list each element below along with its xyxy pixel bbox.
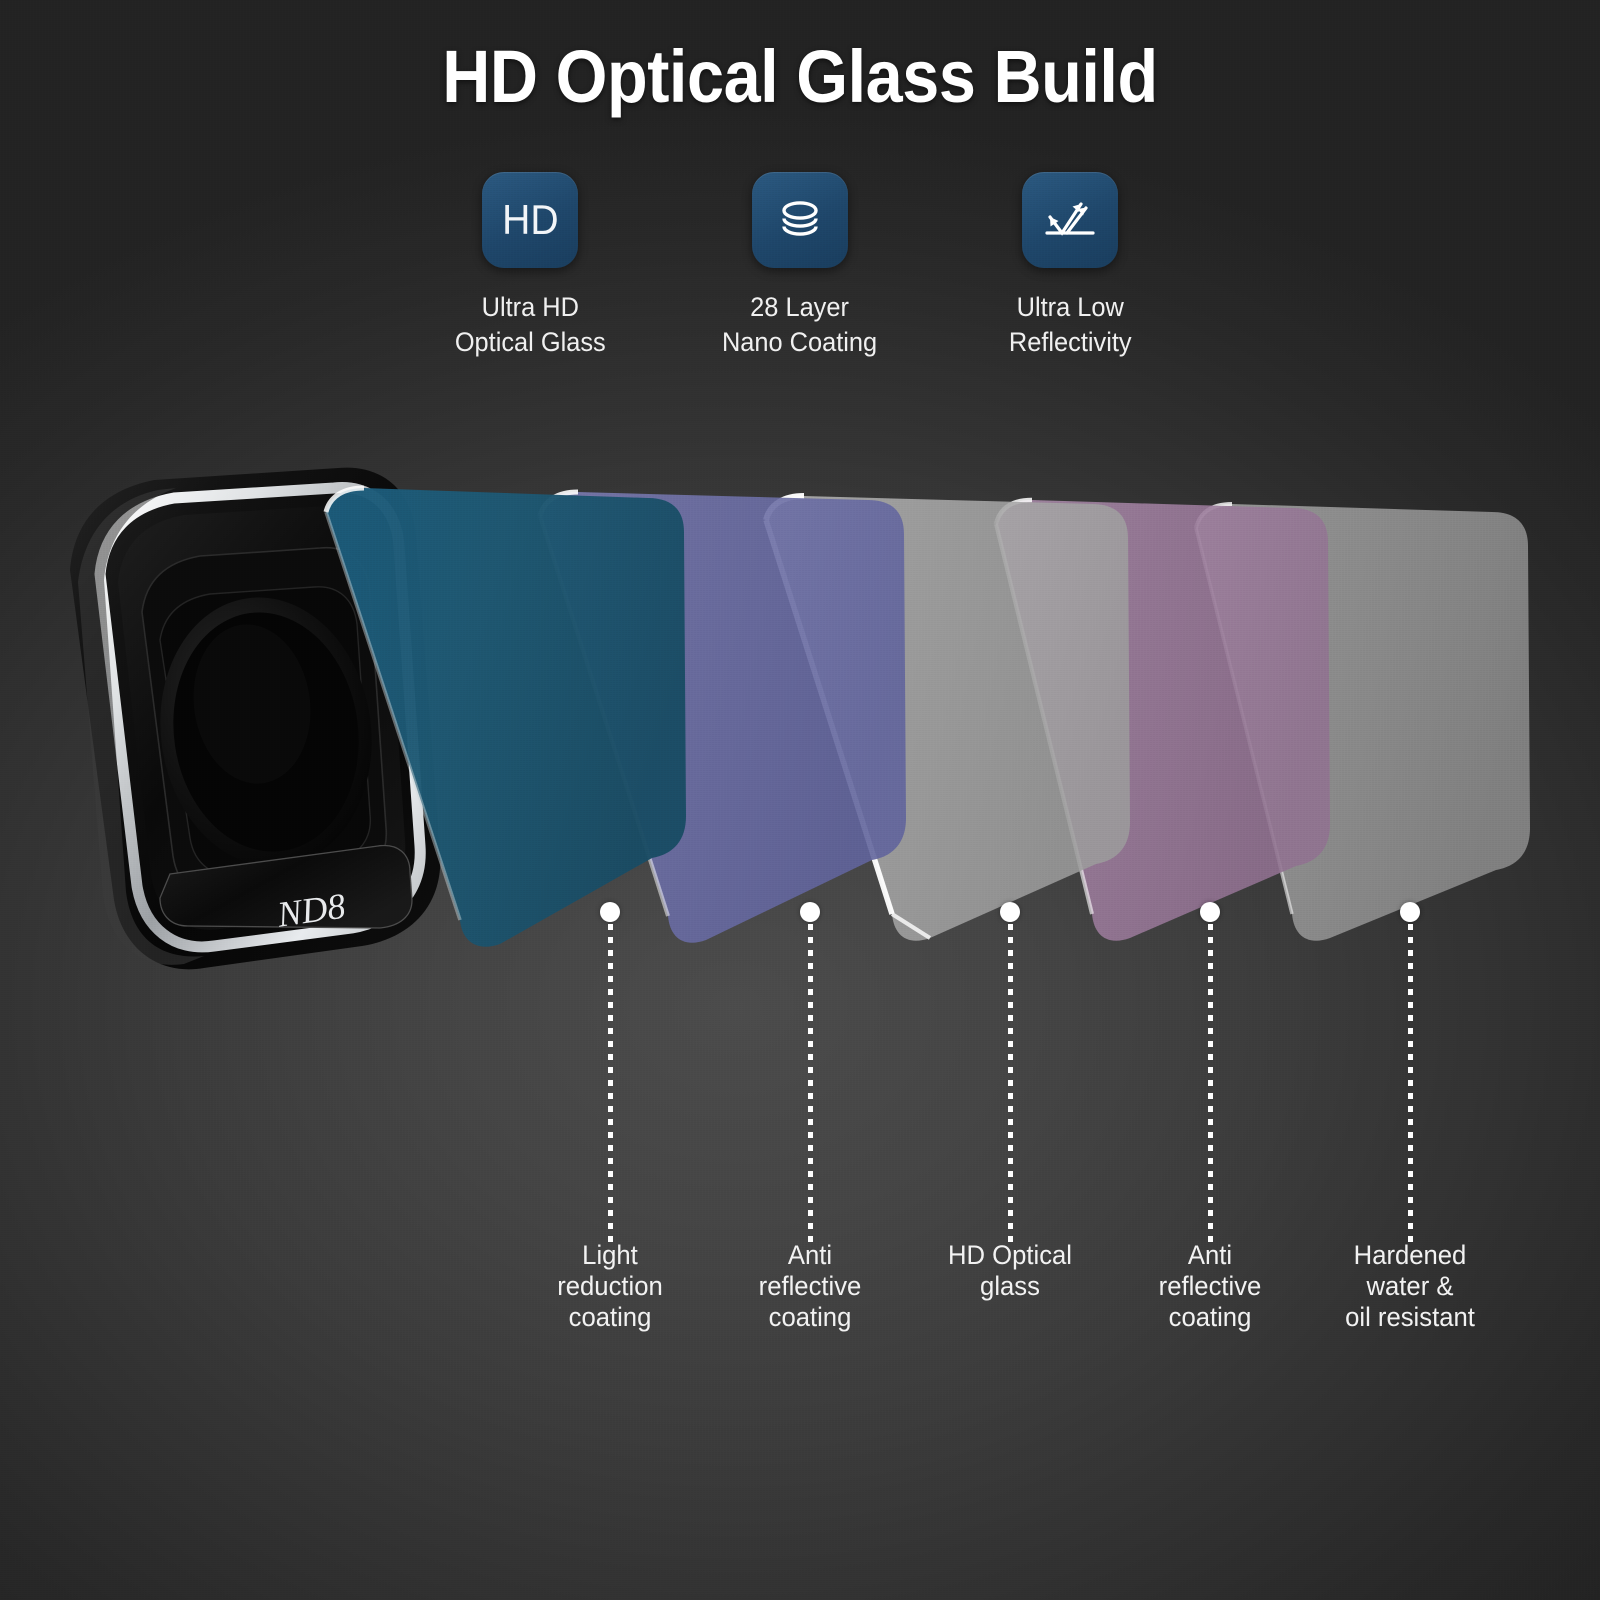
- feature-badge-row: HD Ultra HD Optical Glass 28 Layer Nano …: [430, 172, 1170, 360]
- callout-label-4: Hardened water & oil resistant: [1296, 1240, 1524, 1333]
- callout-dotted-line: [608, 924, 613, 1242]
- light-reflection-icon: [1041, 192, 1099, 248]
- plate-anti-reflective-coating-back: [996, 500, 1330, 941]
- infographic-canvas: HD Optical Glass Build HD Ultra HD Optic…: [0, 0, 1600, 1600]
- plate-hd-optical-glass: [766, 496, 1130, 941]
- feature-ultra-low-reflectivity: Ultra Low Reflectivity: [970, 172, 1170, 360]
- callout-dotted-line: [1008, 924, 1013, 1242]
- callout-label-2: HD Optical glass: [896, 1240, 1124, 1302]
- feature-28-layer-nano-coating: 28 Layer Nano Coating: [700, 172, 900, 360]
- feature-label-1: 28 Layer Nano Coating: [722, 290, 877, 360]
- nd-filter-product: ND8: [8, 452, 468, 997]
- callout-label-1: Anti reflective coating: [696, 1240, 924, 1333]
- feature-ultra-hd-optical-glass: HD Ultra HD Optical Glass: [430, 172, 630, 360]
- callout-dot-icon: [600, 902, 620, 922]
- callout-label-3: Anti reflective coating: [1096, 1240, 1324, 1333]
- layers-badge: [752, 172, 848, 268]
- callout-dot-icon: [800, 902, 820, 922]
- callout-dotted-line: [808, 924, 813, 1242]
- reflectivity-badge: [1022, 172, 1118, 268]
- page-title: HD Optical Glass Build: [80, 36, 1520, 118]
- feature-label-0: Ultra HD Optical Glass: [455, 290, 606, 360]
- feature-label-2: Ultra Low Reflectivity: [1009, 290, 1132, 360]
- plate-hardened-water-oil-resistant: [1196, 504, 1530, 941]
- callout-dotted-line: [1408, 924, 1413, 1242]
- hd-icon: HD: [502, 196, 558, 244]
- hd-badge: HD: [482, 172, 578, 268]
- plate-anti-reflective-coating-front: [540, 492, 906, 943]
- callout-dot-icon: [1400, 902, 1420, 922]
- layers-stack-icon: [772, 192, 828, 248]
- callout-dot-icon: [1000, 902, 1020, 922]
- callout-dotted-line: [1208, 924, 1213, 1242]
- callout-label-0: Light reduction coating: [496, 1240, 724, 1333]
- callout-dot-icon: [1200, 902, 1220, 922]
